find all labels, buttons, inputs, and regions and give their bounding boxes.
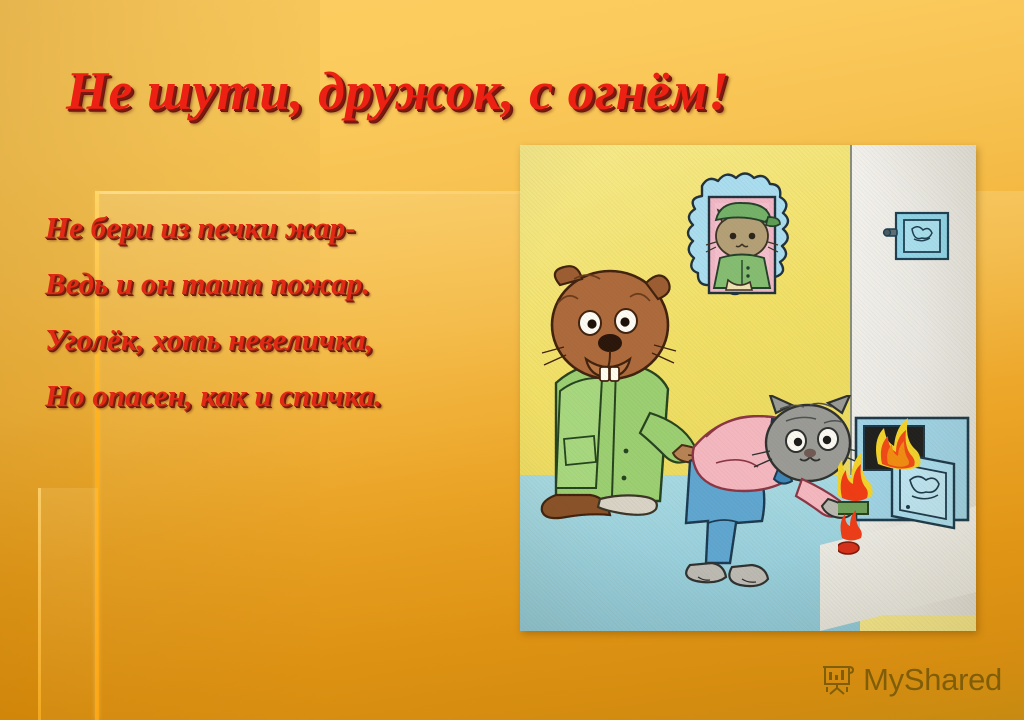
background-panel-secondary: [38, 488, 98, 720]
poem-line-1: Не бери из печки жар-: [45, 212, 515, 243]
illustration-image: [520, 145, 976, 631]
poem-block: Не бери из печки жар- Ведь и он таит пож…: [45, 212, 515, 411]
slide-title: Не шути, дружок, с огнём!: [66, 63, 946, 120]
background-panel-secondary-edge: [38, 488, 41, 720]
watermark-label: MyShared: [863, 662, 1002, 698]
poem-line-2: Ведь и он таит пожар.: [45, 268, 515, 299]
myshared-watermark: MyShared: [822, 662, 1002, 698]
presentation-slide: Не шути, дружок, с огнём! Не бери из печ…: [0, 0, 1024, 720]
poem-line-3: Уголёк, хоть невеличка,: [45, 324, 515, 355]
presentation-chart-icon: [822, 665, 854, 695]
illustration-scene: [520, 145, 976, 631]
wall-hatch-icon: [882, 207, 954, 269]
poem-line-4: Но опасен, как и спичка.: [45, 380, 515, 411]
burning-stove: [838, 380, 976, 580]
